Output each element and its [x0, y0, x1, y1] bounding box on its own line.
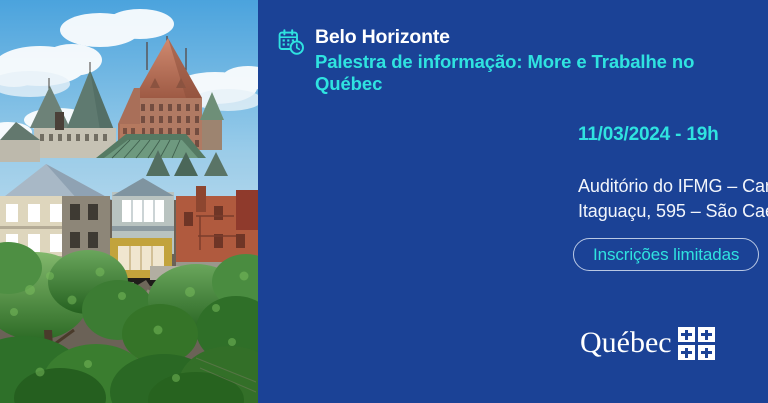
- event-address: Auditório do IFMG – Campus Betim – Rua I…: [578, 174, 768, 224]
- event-info-panel: Belo Horizonte Palestra de informação: M…: [258, 0, 768, 403]
- quebec-wordmark: Québec: [580, 328, 672, 358]
- event-subject: Palestra de informação: More e Trabalhe …: [315, 51, 715, 96]
- quebec-logo[interactable]: Québec: [580, 325, 715, 360]
- chateau-frontenac-illustration: [0, 0, 258, 403]
- calendar-clock-icon: [278, 29, 304, 55]
- event-datetime: 11/03/2024 - 19h: [578, 124, 718, 146]
- event-city: Belo Horizonte: [315, 26, 748, 49]
- event-banner: Belo Horizonte Palestra de informação: M…: [0, 0, 768, 403]
- event-header: Belo Horizonte Palestra de informação: M…: [278, 26, 748, 96]
- quebec-city-photo: [0, 0, 258, 403]
- limited-seats-badge[interactable]: Inscrições limitadas: [573, 238, 759, 271]
- quebec-fleur-de-lis-icon: [678, 327, 715, 360]
- address-line-2: Itaguaçu, 595 – São Caetano, Betim: [578, 199, 768, 224]
- address-line-1: Auditório do IFMG – Campus Betim – Rua: [578, 174, 768, 199]
- event-heading-block: Belo Horizonte Palestra de informação: M…: [315, 26, 748, 96]
